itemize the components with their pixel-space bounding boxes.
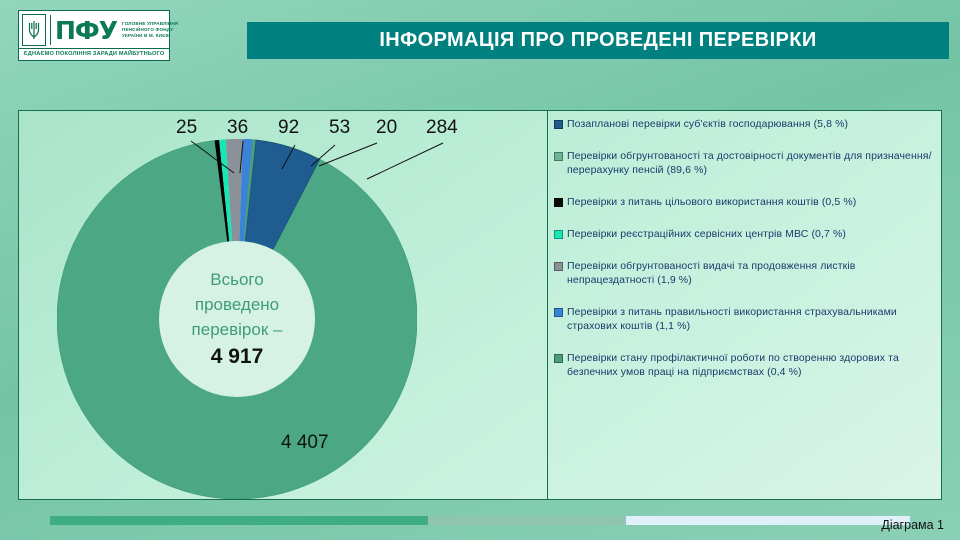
logo-abbreviation: ПФУ [55,18,117,43]
legend-swatch-icon [554,262,563,271]
legend-item-funds-use[interactable]: Перевірки з питань цільового використанн… [554,195,935,209]
legend-item-insurance-funds[interactable]: Перевірки з питань правильності використ… [554,305,935,333]
legend-swatch-icon [554,120,563,129]
data-label-20: 20 [376,117,397,139]
title-bar: ІНФОРМАЦІЯ ПРО ПРОВЕДЕНІ ПЕРЕВІРКИ [247,22,949,59]
data-label-284: 284 [426,117,458,139]
legend-swatch-icon [554,230,563,239]
ukraine-trident-icon [22,14,46,46]
bottom-decorative-bar [50,516,910,525]
figure-caption: Діаграма 1 [881,518,944,532]
data-label-25: 25 [176,117,197,139]
legend-item-label: Перевірки стану профілактичної роботи по… [567,351,935,379]
legend-swatch-icon [554,198,563,207]
legend-item-label: Перевірки реєстраційних сервісних центрі… [567,227,846,241]
donut-svg [57,139,417,499]
legend-swatch-icon [554,152,563,161]
data-label-36: 36 [227,117,248,139]
legend-item-label: Перевірки обгрунтованості та достовірнос… [567,149,935,177]
legend-item-label: Позапланові перевірки суб'єктів господар… [567,117,848,131]
donut-hole [159,241,315,397]
plot-area: Всього проведено перевірок – 4 917 25 36… [19,111,548,499]
bottom-bar-segment-2 [428,516,626,525]
chart-panel: Всього проведено перевірок – 4 917 25 36… [18,110,942,500]
legend-item-msc-centers[interactable]: Перевірки реєстраційних сервісних центрі… [554,227,935,241]
page-title: ІНФОРМАЦІЯ ПРО ПРОВЕДЕНІ ПЕРЕВІРКИ [379,29,816,52]
bottom-bar-segment-1 [50,516,428,525]
legend-item-label: Перевірки з питань правильності використ… [567,305,935,333]
pfu-logo: ПФУ ГОЛОВНЕ УПРАВЛІННЯ ПЕНСІЙНОГО ФОНДУ … [18,10,170,61]
legend-item-label: Перевірки з питань цільового використанн… [567,195,856,209]
logo-org-line-3: УКРАЇНИ В М. КИЄВІ [122,33,166,39]
logo-org-lines: ГОЛОВНЕ УПРАВЛІННЯ ПЕНСІЙНОГО ФОНДУ УКРА… [122,21,166,40]
donut-chart: Всього проведено перевірок – 4 917 [57,139,417,499]
legend-swatch-icon [554,354,563,363]
data-label-4407: 4 407 [281,432,329,454]
legend-swatch-icon [554,308,563,317]
legend-item-sick-leave[interactable]: Перевірки обгрунтованості видачі та прод… [554,259,935,287]
legend-item-documents[interactable]: Перевірки обгрунтованості та достовірнос… [554,149,935,177]
logo-divider [50,15,51,45]
logo-org-line-1: ГОЛОВНЕ УПРАВЛІННЯ [122,21,166,27]
chart-legend: Позапланові перевірки суб'єктів господар… [548,111,941,499]
bottom-bar-segment-3 [626,516,910,525]
legend-item-label: Перевірки обгрунтованості видачі та прод… [567,259,935,287]
logo-tagline: ЄДНАЄМО ПОКОЛІННЯ ЗАРАДИ МАЙБУТНЬОГО [19,48,169,60]
data-label-92: 92 [278,117,299,139]
legend-item-unscheduled[interactable]: Позапланові перевірки суб'єктів господар… [554,117,935,131]
legend-item-prophylactic[interactable]: Перевірки стану профілактичної роботи по… [554,351,935,379]
logo-top-row: ПФУ ГОЛОВНЕ УПРАВЛІННЯ ПЕНСІЙНОГО ФОНДУ … [19,11,169,48]
data-label-53: 53 [329,117,350,139]
